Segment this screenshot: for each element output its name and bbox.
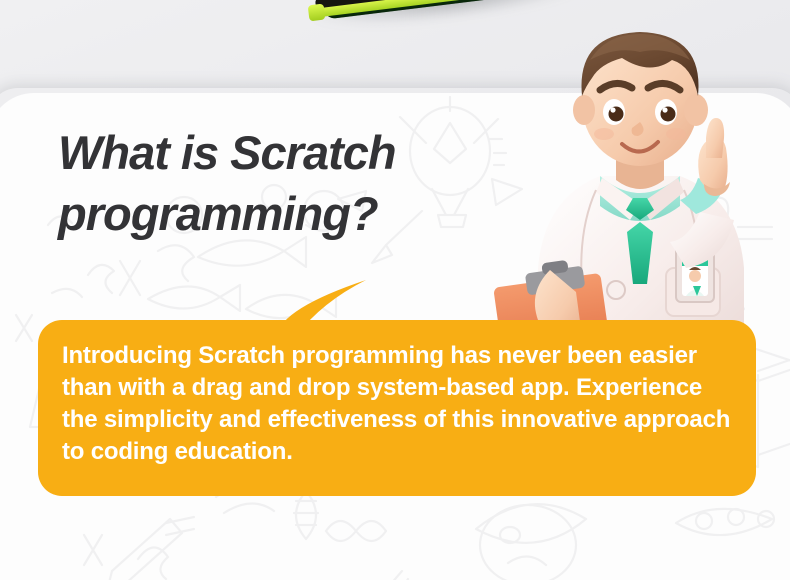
callout-text: Introducing Scratch programming has neve…: [62, 340, 738, 468]
pointing-finger: [706, 118, 724, 158]
teacher-character-illustration: [490, 18, 790, 368]
hero-banner: What is Scratch programming?: [0, 0, 790, 580]
character-head: [573, 32, 708, 166]
callout-bubble: Introducing Scratch programming has neve…: [38, 320, 756, 496]
page-title: What is Scratch programming?: [58, 122, 478, 244]
product-knob-left: [308, 4, 326, 22]
